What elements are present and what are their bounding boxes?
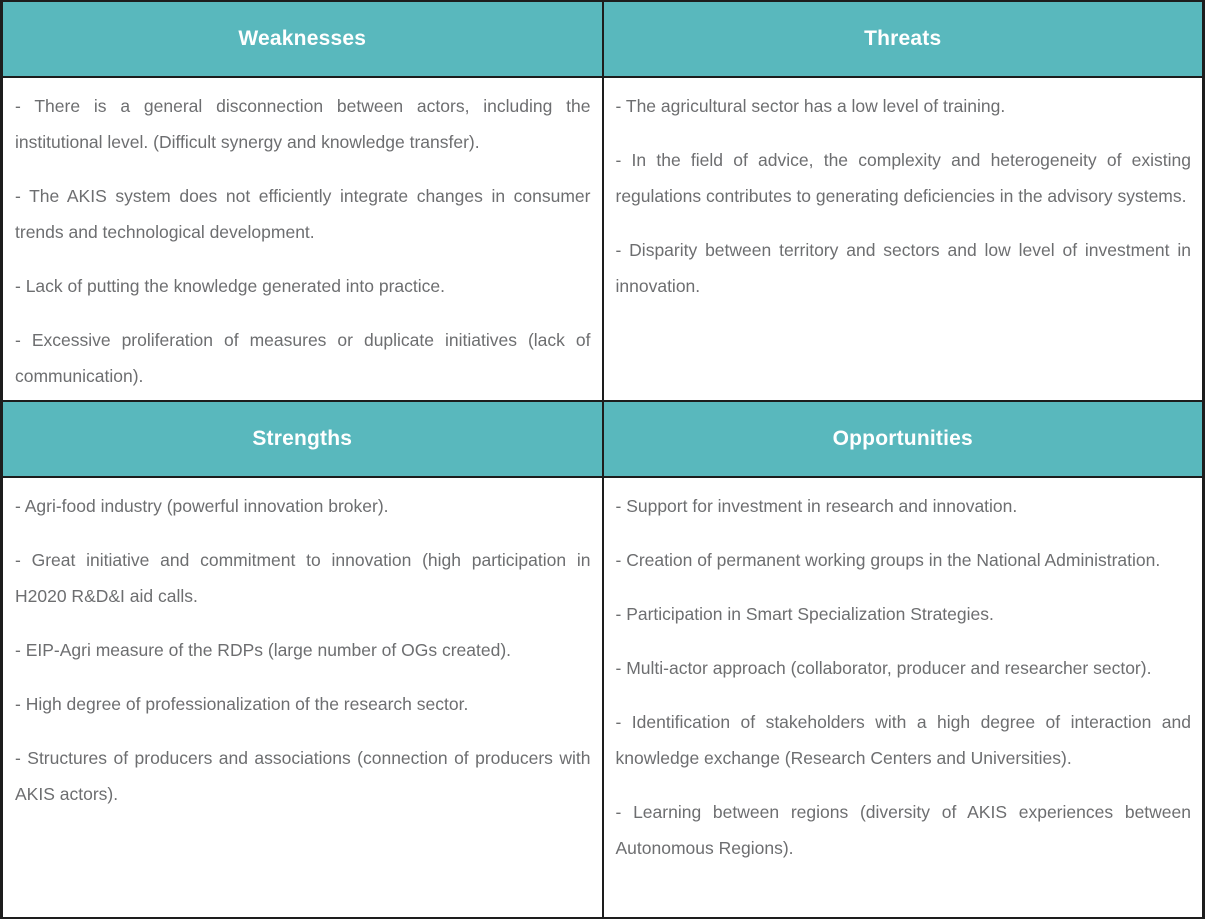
- list-item: - Support for investment in research and…: [616, 488, 1192, 524]
- list-item: - High degree of professionalization of …: [15, 686, 591, 722]
- list-item: - Excessive proliferation of measures or…: [15, 322, 591, 394]
- quadrant-title-strengths: Strengths: [3, 402, 602, 478]
- quadrant-title-threats: Threats: [604, 2, 1203, 78]
- swot-bottom-row: Strengths - Agri-food industry (powerful…: [2, 401, 1204, 918]
- swot-matrix: Weaknesses - There is a general disconne…: [0, 0, 1205, 919]
- quadrant-threats: Threats - The agricultural sector has a …: [604, 2, 1203, 400]
- list-item: - Agri-food industry (powerful innovatio…: [15, 488, 591, 524]
- list-item: - Identification of stakeholders with a …: [616, 704, 1192, 776]
- list-item: - Great initiative and commitment to inn…: [15, 542, 591, 614]
- list-item: - The AKIS system does not efficiently i…: [15, 178, 591, 250]
- quadrant-body-threats: - The agricultural sector has a low leve…: [604, 78, 1203, 400]
- list-item: - Multi-actor approach (collaborator, pr…: [616, 650, 1192, 686]
- list-item: - There is a general disconnection betwe…: [15, 88, 591, 160]
- quadrant-opportunities: Opportunities - Support for investment i…: [604, 402, 1203, 917]
- list-item: - Participation in Smart Specialization …: [616, 596, 1192, 632]
- quadrant-strengths: Strengths - Agri-food industry (powerful…: [3, 402, 602, 917]
- swot-cell-strengths: Strengths - Agri-food industry (powerful…: [2, 401, 603, 918]
- list-item: - Learning between regions (diversity of…: [616, 794, 1192, 866]
- quadrant-title-opportunities: Opportunities: [604, 402, 1203, 478]
- quadrant-weaknesses: Weaknesses - There is a general disconne…: [3, 2, 602, 400]
- swot-cell-threats: Threats - The agricultural sector has a …: [603, 1, 1204, 401]
- quadrant-title-weaknesses: Weaknesses: [3, 2, 602, 78]
- list-item: - EIP-Agri measure of the RDPs (large nu…: [15, 632, 591, 668]
- list-item: - Structures of producers and associatio…: [15, 740, 591, 812]
- list-item: - The agricultural sector has a low leve…: [616, 88, 1192, 124]
- quadrant-body-opportunities: - Support for investment in research and…: [604, 478, 1203, 917]
- swot-cell-opportunities: Opportunities - Support for investment i…: [603, 401, 1204, 918]
- swot-cell-weaknesses: Weaknesses - There is a general disconne…: [2, 1, 603, 401]
- list-item: - Lack of putting the knowledge generate…: [15, 268, 591, 304]
- list-item: - Disparity between territory and sector…: [616, 232, 1192, 304]
- swot-top-row: Weaknesses - There is a general disconne…: [2, 1, 1204, 401]
- list-item: - In the field of advice, the complexity…: [616, 142, 1192, 214]
- quadrant-body-strengths: - Agri-food industry (powerful innovatio…: [3, 478, 602, 917]
- list-item: - Creation of permanent working groups i…: [616, 542, 1192, 578]
- quadrant-body-weaknesses: - There is a general disconnection betwe…: [3, 78, 602, 400]
